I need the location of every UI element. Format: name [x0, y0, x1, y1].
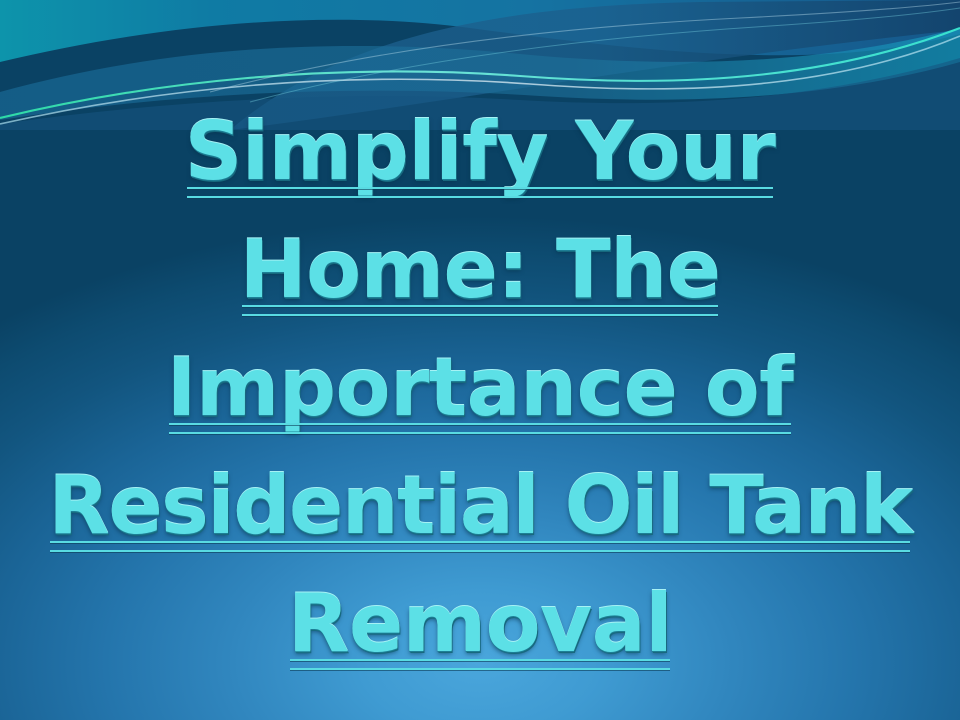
title-line-4: Residential Oil Tank	[48, 447, 911, 565]
title-line-3: Importance of	[167, 329, 794, 447]
slide-title-block: Simplify Your Home: The Importance of Re…	[0, 0, 960, 720]
title-slide: Simplify Your Home: The Importance of Re…	[0, 0, 960, 720]
title-line-2: Home: The	[240, 211, 721, 329]
title-line-5: Removal	[288, 565, 672, 683]
title-line-1: Simplify Your	[185, 93, 776, 211]
